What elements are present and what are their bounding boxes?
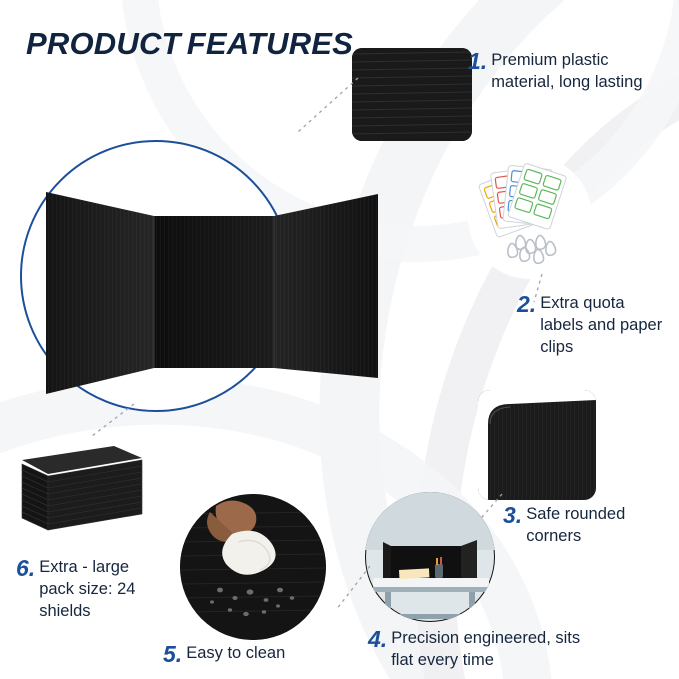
- feature-text-2: Extra quota labels and paper clips: [540, 293, 669, 358]
- labels-and-clips-thumb: [468, 155, 592, 279]
- feature-callout-4: 4. Precision engineered, sits flat every…: [368, 628, 604, 672]
- connector-line-6: [84, 400, 140, 442]
- feature-number-1: 1.: [468, 50, 487, 73]
- feature-number-4: 4.: [368, 628, 387, 651]
- feature-number-3: 3.: [503, 504, 522, 527]
- feature-callout-1: 1. Premium plastic material, long lastin…: [468, 50, 668, 94]
- feature-number-2: 2.: [517, 293, 536, 316]
- privacy-shield-hero-image: [44, 172, 380, 420]
- rounded-corner-thumb: [478, 390, 596, 500]
- connector-line-4: [330, 560, 374, 624]
- wiping-cloth-thumb: [180, 494, 326, 640]
- page-title: PRODUCTFEATURES: [26, 26, 353, 62]
- feature-callout-3: 3. Safe rounded corners: [503, 504, 669, 548]
- feature-text-3: Safe rounded corners: [526, 504, 669, 548]
- title-word-features: FEATURES: [187, 26, 353, 61]
- feature-text-4: Precision engineered, sits flat every ti…: [391, 628, 604, 672]
- product-feature-infographic: PRODUCTFEATURES: [0, 0, 679, 679]
- feature-number-6: 6.: [16, 557, 35, 580]
- connector-line-1: [292, 70, 362, 140]
- title-word-product: PRODUCT: [26, 26, 181, 61]
- feature-callout-2: 2. Extra quota labels and paper clips: [517, 293, 669, 358]
- feature-text-6: Extra - large pack size: 24 shields: [39, 557, 166, 622]
- feature-text-1: Premium plastic material, long lasting: [491, 50, 668, 94]
- stack-of-shields-thumb: [18, 430, 146, 540]
- feature-callout-6: 6. Extra - large pack size: 24 shields: [16, 557, 166, 622]
- feature-number-5: 5.: [163, 643, 182, 666]
- shield-on-desk-thumb: [365, 492, 495, 622]
- plastic-texture-thumb: [352, 48, 472, 141]
- feature-text-5: Easy to clean: [186, 643, 285, 665]
- feature-callout-5: 5. Easy to clean: [163, 643, 343, 666]
